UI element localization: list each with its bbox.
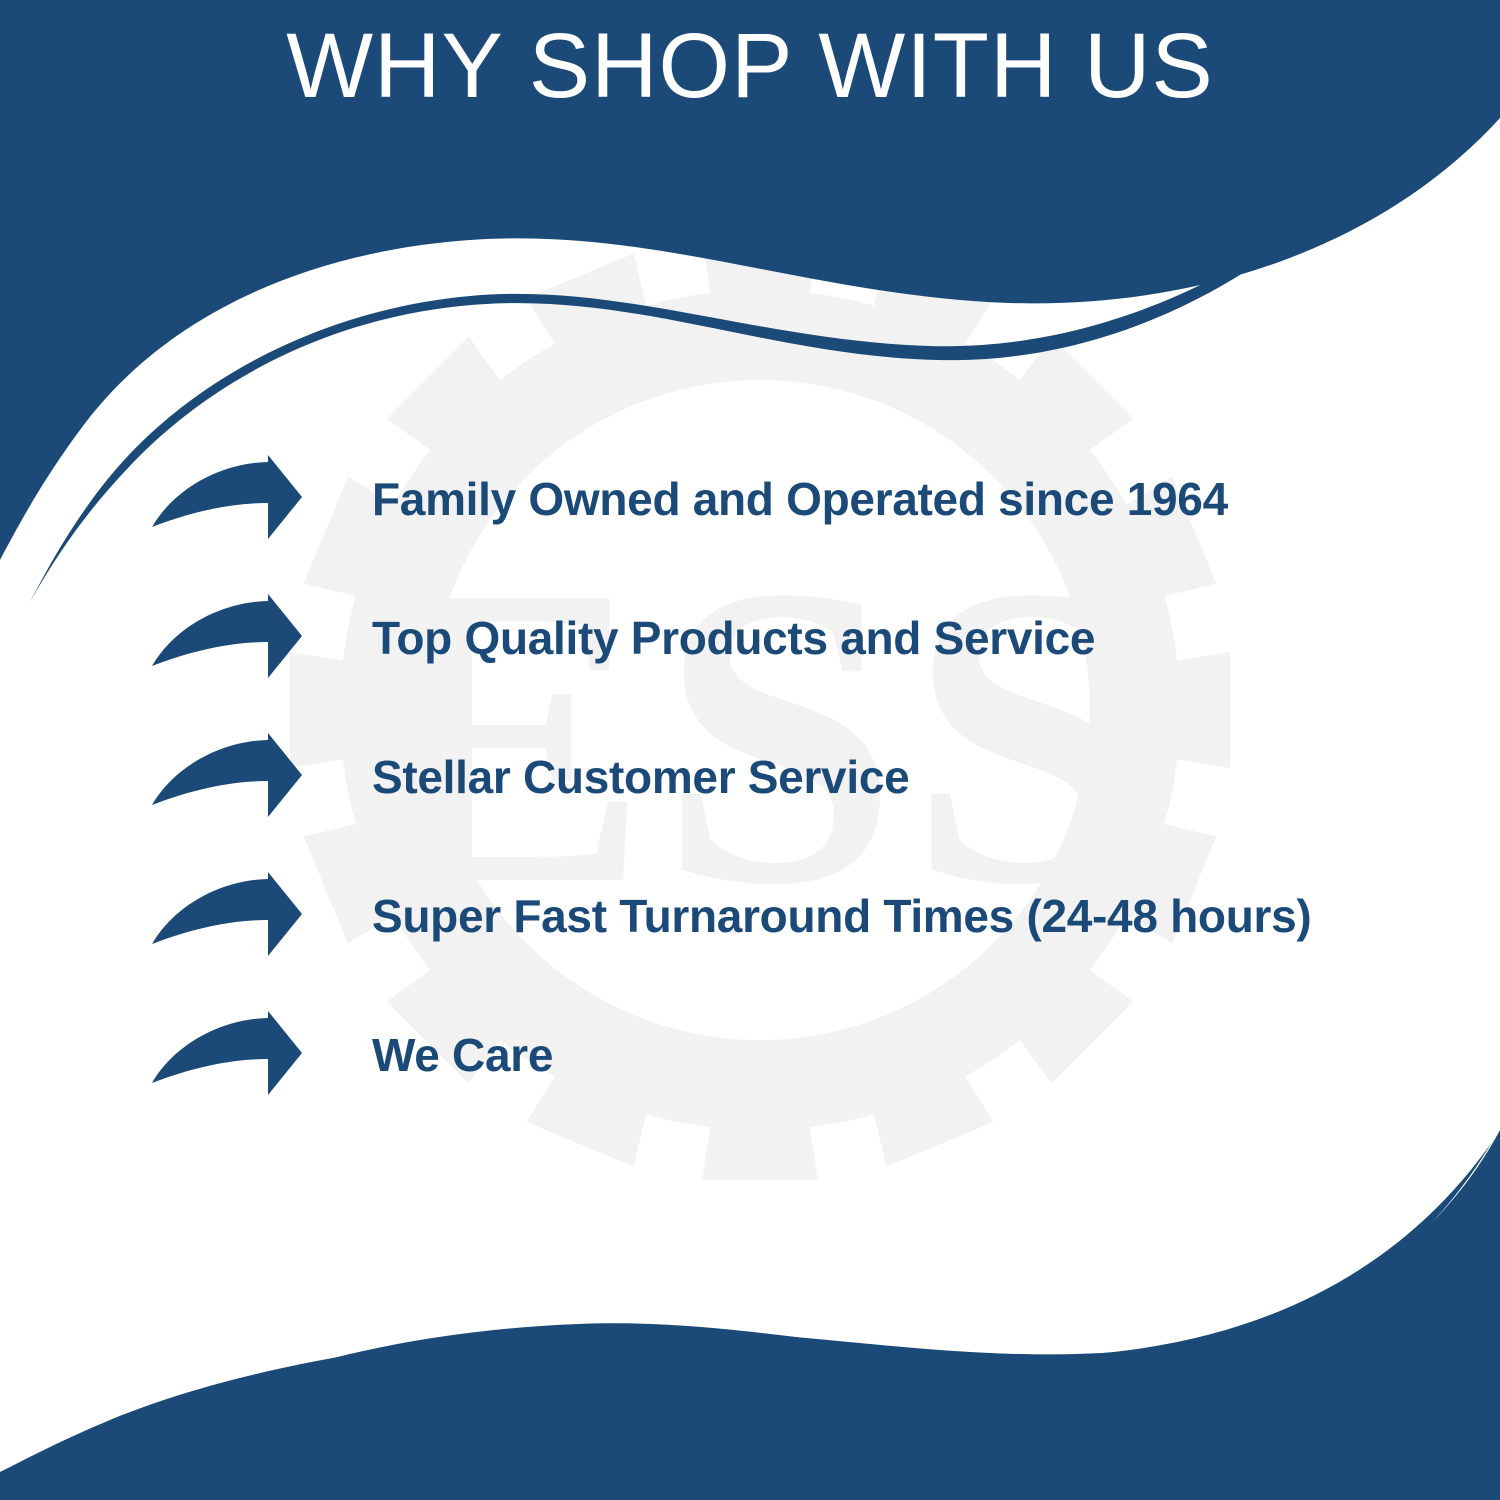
benefit-label: We Care <box>372 1030 1450 1081</box>
list-item: Top Quality Products and Service <box>150 569 1450 708</box>
benefit-label: Family Owned and Operated since 1964 <box>372 474 1450 525</box>
curved-arrow-right-icon <box>150 594 310 684</box>
list-item: Family Owned and Operated since 1964 <box>150 430 1450 569</box>
benefit-label: Top Quality Products and Service <box>372 613 1450 664</box>
benefit-label: Stellar Customer Service <box>372 752 1450 803</box>
list-item: Stellar Customer Service <box>150 708 1450 847</box>
list-item: Super Fast Turnaround Times (24-48 hours… <box>150 847 1450 986</box>
promo-banner: ESS WHY SHOP WITH US Family Owned and Op… <box>0 0 1500 1500</box>
benefits-list: Family Owned and Operated since 1964 Top… <box>150 430 1450 1125</box>
curved-arrow-right-icon <box>150 872 310 962</box>
curved-arrow-right-icon <box>150 1011 310 1101</box>
page-title: WHY SHOP WITH US <box>0 18 1500 115</box>
list-item: We Care <box>150 986 1450 1125</box>
curved-arrow-right-icon <box>150 455 310 545</box>
benefit-label: Super Fast Turnaround Times (24-48 hours… <box>372 891 1450 942</box>
curved-arrow-right-icon <box>150 733 310 823</box>
